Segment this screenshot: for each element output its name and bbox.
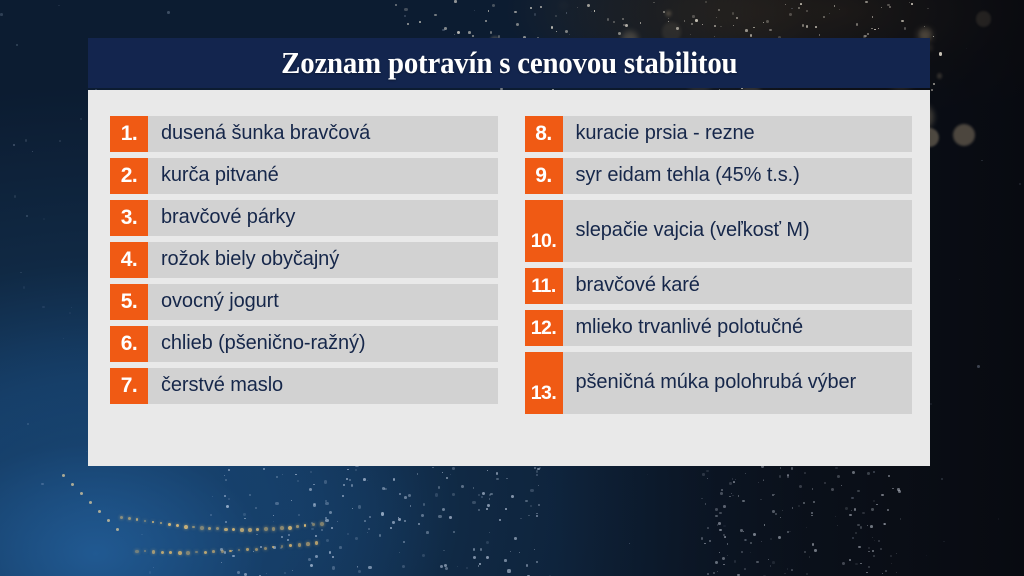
list-item: 9.syr eidam tehla (45% t.s.) xyxy=(525,158,913,194)
broadcast-graphic-screen: Zoznam potravín s cenovou stabilitou 1.d… xyxy=(0,0,1024,576)
list-item-number: 10. xyxy=(525,200,563,262)
list-column-left: 1.dusená šunka bravčová2.kurča pitvané3.… xyxy=(110,116,498,414)
list-item: 12.mlieko trvanlivé polotučné xyxy=(525,310,913,346)
list-item-number: 5. xyxy=(110,284,148,320)
list-item-label: kuracie prsia - rezne xyxy=(563,116,913,152)
list-item-label: mlieko trvanlivé polotučné xyxy=(563,310,913,346)
list-item-label: rožok biely obyčajný xyxy=(148,242,498,278)
list-item: 7.čerstvé maslo xyxy=(110,368,498,404)
title-bar: Zoznam potravín s cenovou stabilitou xyxy=(88,38,930,88)
list-item: 2.kurča pitvané xyxy=(110,158,498,194)
list-item-number: 6. xyxy=(110,326,148,362)
list-item-label: kurča pitvané xyxy=(148,158,498,194)
list-item-number: 8. xyxy=(525,116,563,152)
list-item-label: slepačie vajcia (veľkosť M) xyxy=(563,200,913,262)
list-item: 5.ovocný jogurt xyxy=(110,284,498,320)
list-item-label: chlieb (pšenično-ražný) xyxy=(148,326,498,362)
list-item-number: 9. xyxy=(525,158,563,194)
list-item-label: bravčové karé xyxy=(563,268,913,304)
list-panel: 1.dusená šunka bravčová2.kurča pitvané3.… xyxy=(88,90,930,466)
list-item: 10.slepačie vajcia (veľkosť M) xyxy=(525,200,913,262)
list-item-number: 11. xyxy=(525,268,563,304)
list-item: 1.dusená šunka bravčová xyxy=(110,116,498,152)
list-item-label: dusená šunka bravčová xyxy=(148,116,498,152)
list-item: 11.bravčové karé xyxy=(525,268,913,304)
list-item-number: 4. xyxy=(110,242,148,278)
list-item-number: 2. xyxy=(110,158,148,194)
list-item: 8.kuracie prsia - rezne xyxy=(525,116,913,152)
list-item-label: bravčové párky xyxy=(148,200,498,236)
list-item: 13.pšeničná múka polohrubá výber xyxy=(525,352,913,414)
list-item-label: čerstvé maslo xyxy=(148,368,498,404)
list-item-label: syr eidam tehla (45% t.s.) xyxy=(563,158,913,194)
list-item-number: 3. xyxy=(110,200,148,236)
page-title: Zoznam potravín s cenovou stabilitou xyxy=(281,45,737,81)
list-columns: 1.dusená šunka bravčová2.kurča pitvané3.… xyxy=(110,116,912,414)
list-item-label: ovocný jogurt xyxy=(148,284,498,320)
list-column-right: 8.kuracie prsia - rezne9.syr eidam tehla… xyxy=(525,116,913,414)
list-item: 4.rožok biely obyčajný xyxy=(110,242,498,278)
list-item: 3.bravčové párky xyxy=(110,200,498,236)
list-item-label: pšeničná múka polohrubá výber xyxy=(563,352,913,414)
list-item-number: 13. xyxy=(525,352,563,414)
list-item-number: 7. xyxy=(110,368,148,404)
list-item-number: 1. xyxy=(110,116,148,152)
list-item-number: 12. xyxy=(525,310,563,346)
list-item: 6.chlieb (pšenično-ražný) xyxy=(110,326,498,362)
